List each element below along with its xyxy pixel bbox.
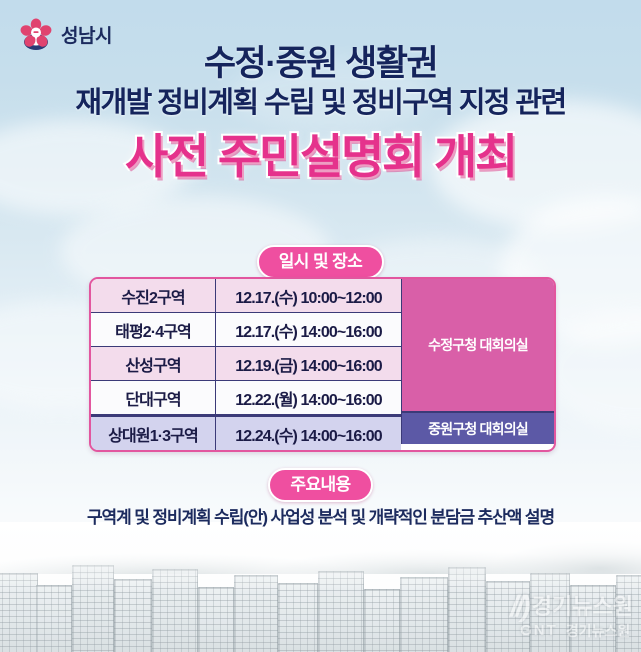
title-block: 수정·중원 생활권 재개발 정비계획 수립 및 정비구역 지정 관련 사전 주민…	[0, 44, 641, 182]
content-badge-wrapper: 주요내용	[0, 468, 641, 502]
schedule-table: 수진2구역 12.17.(수) 10:00~12:00 태평2·4구역 12.1…	[89, 277, 556, 452]
title-line-1: 수정·중원 생활권	[0, 44, 641, 83]
poster-content: 성남시 수정·중원 생활권 재개발 정비계획 수립 및 정비구역 지정 관련 사…	[0, 0, 641, 652]
venue-cell-sujeong: 수정구청 대회의실	[401, 279, 554, 411]
poster-canvas: //) 경기뉴스원 GNT 경기뉴스원	[0, 0, 641, 652]
datetime-cell: 12.17.(수) 10:00~12:00	[216, 279, 401, 312]
table-row: 상대원1·3구역 12.24.(수) 14:00~16:00	[91, 415, 401, 450]
title-line-2: 재개발 정비계획 수립 및 정비구역 지정 관련	[0, 87, 641, 120]
datetime-cell: 12.24.(수) 14:00~16:00	[216, 417, 401, 450]
table-row: 산성구역 12.19.(금) 14:00~16:00	[91, 347, 401, 381]
badge-schedule: 일시 및 장소	[257, 245, 384, 279]
venue-column: 수정구청 대회의실 중원구청 대회의실	[401, 279, 554, 450]
headline-main: 사전 주민설명회 개최	[0, 131, 641, 183]
schedule-badge-wrapper: 일시 및 장소	[0, 245, 641, 279]
schedule-rows: 수진2구역 12.17.(수) 10:00~12:00 태평2·4구역 12.1…	[91, 279, 401, 450]
main-content-description: 구역계 및 정비계획 수립(안) 사업성 분석 및 개략적인 분담금 추산액 설…	[0, 503, 641, 528]
venue-cell-jungwon: 중원구청 대회의실	[401, 411, 554, 444]
datetime-cell: 12.22.(월) 14:00~16:00	[216, 381, 401, 414]
datetime-cell: 12.19.(금) 14:00~16:00	[216, 347, 401, 380]
zone-cell: 단대구역	[91, 381, 216, 414]
zone-cell: 태평2·4구역	[91, 313, 216, 346]
table-row: 태평2·4구역 12.17.(수) 14:00~16:00	[91, 313, 401, 347]
table-row: 수진2구역 12.17.(수) 10:00~12:00	[91, 279, 401, 313]
table-row: 단대구역 12.22.(월) 14:00~16:00	[91, 381, 401, 415]
zone-cell: 상대원1·3구역	[91, 417, 216, 450]
zone-cell: 수진2구역	[91, 279, 216, 312]
datetime-cell: 12.17.(수) 14:00~16:00	[216, 313, 401, 346]
badge-main-content: 주요내용	[268, 468, 372, 502]
zone-cell: 산성구역	[91, 347, 216, 380]
